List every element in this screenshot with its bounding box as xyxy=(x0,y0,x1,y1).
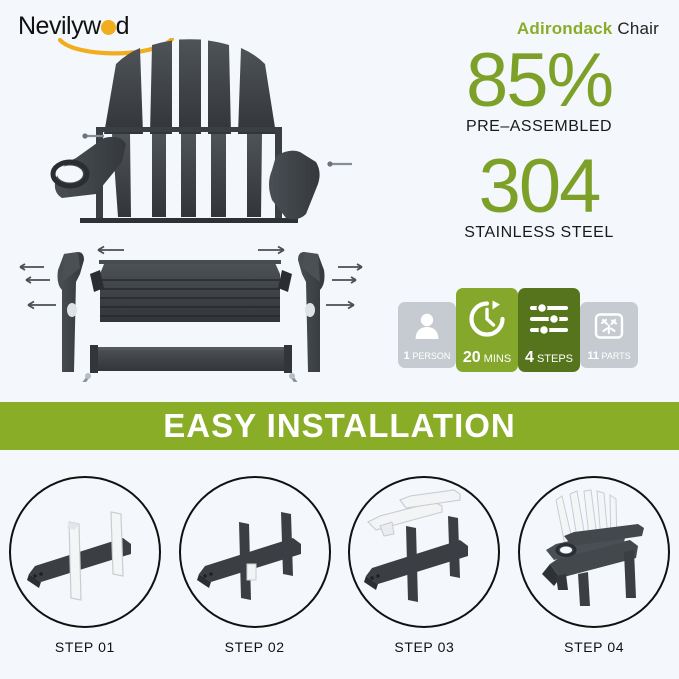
badge-unit: STEPS xyxy=(537,353,573,365)
badge-text: 1 PERSON xyxy=(404,351,451,362)
step-label: STEP 03 xyxy=(344,639,504,655)
badge-unit: PERSON xyxy=(412,351,450,361)
badge-number: 1 xyxy=(404,350,410,362)
step-item: STEP 01 xyxy=(5,476,165,655)
sliders-icon xyxy=(518,288,580,350)
step-illustration-01 xyxy=(9,476,161,628)
left-leg xyxy=(58,252,85,372)
backrest-fan-slats xyxy=(80,32,298,223)
step-item: STEP 03 xyxy=(344,476,504,655)
badge-unit: MINS xyxy=(484,353,512,365)
step-label: STEP 02 xyxy=(175,639,335,655)
step-label: STEP 01 xyxy=(5,639,165,655)
stat-label: STAINLESS STEEL xyxy=(394,224,679,242)
right-armrest xyxy=(269,151,352,220)
screws xyxy=(80,373,300,382)
product-title-light: Chair xyxy=(612,19,659,38)
badge-text: 11 PARTS xyxy=(587,351,630,362)
exploded-parts-diagram xyxy=(0,22,400,382)
badge-text: 20 MINS xyxy=(463,350,511,366)
step-item: STEP 04 xyxy=(514,476,674,655)
banner-title: EASY INSTALLATION xyxy=(163,407,516,445)
installation-steps: STEP 01 STEP 02 xyxy=(0,476,679,655)
badge-unit: PARTS xyxy=(601,351,630,361)
product-title-strong: Adirondack xyxy=(517,19,613,38)
badge-number: 20 xyxy=(463,349,481,366)
step-label: STEP 04 xyxy=(514,639,674,655)
left-armrest-with-cupholder xyxy=(53,133,126,198)
step-illustration-04 xyxy=(518,476,670,628)
right-leg xyxy=(298,252,325,372)
parts-icon xyxy=(580,302,638,351)
badge-text: 4 STEPS xyxy=(525,350,573,366)
badge-steps: 4 STEPS xyxy=(518,288,580,372)
step-illustration-03 xyxy=(348,476,500,628)
person-icon xyxy=(398,302,456,351)
stat-value: 85% xyxy=(394,46,679,116)
easy-installation-banner: EASY INSTALLATION xyxy=(0,402,679,450)
badge-number: 11 xyxy=(587,350,599,362)
clock-icon xyxy=(456,288,518,350)
seat-slats xyxy=(99,260,281,322)
cross-brace xyxy=(80,345,300,382)
step-illustration-02 xyxy=(179,476,331,628)
stat-value: 304 xyxy=(394,152,679,222)
badge-person: 1 PERSON xyxy=(398,302,456,368)
badge-number: 4 xyxy=(525,349,534,366)
stat-stainless-steel: 304 STAINLESS STEEL xyxy=(394,152,679,242)
badge-parts: 11 PARTS xyxy=(580,302,638,368)
product-title: Adirondack Chair xyxy=(517,19,659,39)
product-infographic: Nevilywd Adirondack Chair 85% PRE–ASSEMB… xyxy=(0,0,679,679)
spec-badges: 1 PERSON 20 MINS xyxy=(398,288,638,372)
stat-preassembled: 85% PRE–ASSEMBLED xyxy=(394,46,679,136)
badge-mins: 20 MINS xyxy=(456,288,518,372)
stat-label: PRE–ASSEMBLED xyxy=(394,118,679,136)
step-item: STEP 02 xyxy=(175,476,335,655)
